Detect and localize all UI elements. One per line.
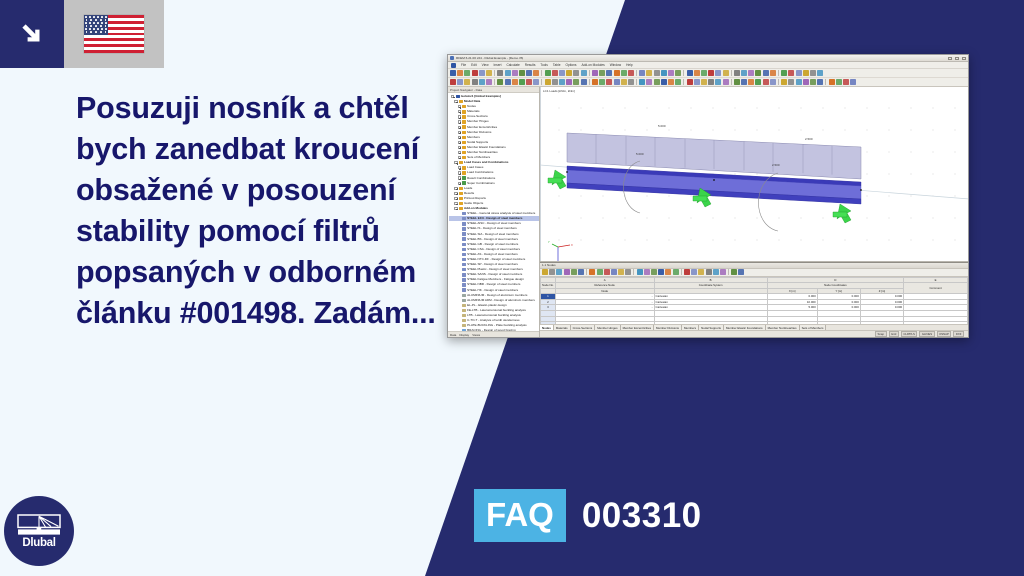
toolbar-button-23[interactable] (621, 70, 627, 76)
folder-icon (462, 171, 466, 174)
toolbar-button-35[interactable] (715, 79, 721, 85)
toolbar-button-4[interactable] (472, 79, 478, 85)
folder-icon (462, 176, 466, 179)
status-toggle[interactable]: GLINES (919, 331, 934, 337)
toolbar-button-6[interactable] (486, 70, 492, 76)
toolbar-button-6[interactable] (578, 269, 584, 275)
tree-expand-icon[interactable] (458, 171, 461, 174)
tree-expand-icon[interactable] (454, 202, 457, 205)
menu-item-view[interactable]: View (482, 63, 489, 67)
node-marker (860, 189, 862, 191)
toolbar-button-20[interactable] (599, 70, 605, 76)
language-flag-box[interactable] (64, 0, 164, 68)
load-label-2: 2.500 (805, 137, 813, 141)
toolbar-button-22[interactable] (614, 79, 620, 85)
truss-frame-icon (17, 514, 61, 536)
toolbar-separator (731, 79, 732, 85)
folder-icon (462, 115, 466, 118)
node-marker (713, 179, 715, 181)
toolbar-button-28[interactable] (661, 70, 667, 76)
table-panel[interactable]: 1.1 Nodes A B D E (540, 262, 968, 330)
addon-module-icon (462, 309, 466, 312)
toolbar-button-1[interactable] (542, 269, 548, 275)
folder-icon (462, 166, 466, 169)
toolbar-separator (541, 79, 542, 85)
tree-item-label: BRACING - Design of wood bracing (467, 328, 515, 331)
addon-module-icon (462, 237, 466, 240)
toolbar-button-48[interactable] (817, 79, 823, 85)
toolbar-button-44[interactable] (788, 79, 794, 85)
toolbar-button-11[interactable] (618, 269, 624, 275)
header-node-no: Node No. (541, 283, 556, 289)
toolbar-button-12[interactable] (533, 79, 539, 85)
menu-item-edit[interactable]: Edit (471, 63, 477, 67)
toolbar-separator (633, 269, 634, 275)
toolbar-button-13[interactable] (637, 269, 643, 275)
folder-icon (459, 192, 463, 195)
toolbar-button-49[interactable] (829, 79, 835, 85)
folder-icon (462, 110, 466, 113)
toolbar-button-21[interactable] (698, 269, 704, 275)
toolbar-button-51[interactable] (843, 79, 849, 85)
addon-module-icon (462, 319, 466, 322)
dlubal-wordmark: Dlubal (22, 537, 55, 549)
toolbar-button-7[interactable] (497, 79, 503, 85)
menu-item-results[interactable]: Results (525, 63, 536, 67)
close-button[interactable] (962, 57, 966, 60)
toolbar-separator (494, 79, 495, 85)
toolbar-button-37[interactable] (734, 79, 740, 85)
toolbar-button-25[interactable] (639, 79, 645, 85)
toolbar-button-36[interactable] (723, 79, 729, 85)
toolbar-button-26[interactable] (646, 79, 652, 85)
toolbar-separator (728, 269, 729, 275)
toolbar-button-4[interactable] (564, 269, 570, 275)
toolbar-button-45[interactable] (796, 70, 802, 76)
toolbar-button-20[interactable] (691, 269, 697, 275)
addon-module-icon (462, 314, 466, 317)
toolbar-button-3[interactable] (556, 269, 562, 275)
toolbar-button-38[interactable] (741, 79, 747, 85)
tree-expand-icon[interactable] (458, 131, 461, 134)
toolbar-button-16[interactable] (566, 70, 572, 76)
main-area: LC1 Loads [kN/m, kNm] (540, 87, 968, 337)
toolbar-button-12[interactable] (625, 269, 631, 275)
toolbar-button-43[interactable] (781, 79, 787, 85)
toolbar-button-12[interactable] (533, 70, 539, 76)
toolbar-separator (681, 269, 682, 275)
toolbar-button-46[interactable] (803, 79, 809, 85)
toolbar-button-47[interactable] (810, 79, 816, 85)
addon-module-icon (462, 263, 466, 266)
toolbar-button-16[interactable] (566, 79, 572, 85)
tree-expand-icon[interactable] (458, 115, 461, 118)
addon-module-icon (462, 227, 466, 230)
toolbar-button-52[interactable] (850, 79, 856, 85)
tree-expand-icon[interactable] (458, 120, 461, 123)
toolbar-button-39[interactable] (748, 70, 754, 76)
toolbar-button-24[interactable] (720, 269, 726, 275)
tree-expand-icon[interactable] (454, 187, 457, 190)
navigator-tab-views[interactable]: Views (472, 333, 480, 337)
toolbar-button-32[interactable] (694, 70, 700, 76)
addon-module-icon (462, 278, 466, 281)
toolbar-separator (636, 79, 637, 85)
toolbar-button-7[interactable] (589, 269, 595, 275)
toolbar-button-22[interactable] (614, 70, 620, 76)
folder-icon (462, 131, 466, 134)
status-bar[interactable]: SnapGridCLIPPLSGLINESOSNAPDXF (540, 330, 968, 337)
toolbar-button-25[interactable] (731, 269, 737, 275)
header-badges (0, 0, 164, 68)
tree-expand-icon[interactable] (458, 141, 461, 144)
load-label-4: 2.500 (772, 163, 780, 167)
toolbar-button-10[interactable] (611, 269, 617, 275)
menu-bar[interactable]: File Edit View Insert Calculate Results … (448, 62, 968, 69)
main-toolbar[interactable] (448, 69, 968, 78)
addon-module-icon (462, 329, 466, 331)
load-label-3: 5.000 (636, 152, 644, 156)
toolbar-button-34[interactable] (708, 70, 714, 76)
tree-expand-icon[interactable] (454, 192, 457, 195)
toolbar-separator (683, 70, 684, 76)
menu-item-help[interactable]: Help (626, 63, 633, 67)
folder-icon (462, 105, 466, 108)
toolbar-button-8[interactable] (505, 70, 511, 76)
toolbar-separator (541, 70, 542, 76)
secondary-toolbar[interactable] (448, 78, 968, 87)
rfem-application-window[interactable]: RFEM 6.21.00 x64 - Dlubal Example - [Dem… (447, 54, 969, 338)
toolbar-button-29[interactable] (668, 70, 674, 76)
nodal-support-3 (833, 204, 851, 223)
addon-module-icon (462, 253, 466, 256)
folder-icon (459, 100, 463, 103)
toolbar-button-19[interactable] (592, 79, 598, 85)
addon-module-icon (462, 273, 466, 276)
coordinate-axes: X Y Z (548, 240, 573, 262)
toolbar-button-31[interactable] (687, 70, 693, 76)
menu-item-window[interactable]: Window (610, 63, 621, 67)
status-toggle[interactable]: Snap (875, 331, 887, 337)
axis-label-y: Y (548, 240, 550, 244)
toolbar-button-32[interactable] (694, 79, 700, 85)
toolbar-button-41[interactable] (763, 79, 769, 85)
toolbar-button-10[interactable] (519, 70, 525, 76)
toolbar-button-46[interactable] (803, 70, 809, 76)
addon-module-icon (462, 268, 466, 271)
toolbar-button-9[interactable] (604, 269, 610, 275)
tree-expand-icon[interactable] (458, 182, 461, 185)
addon-module-icon (462, 324, 466, 327)
toolbar-button-7[interactable] (497, 70, 503, 76)
toolbar-button-8[interactable] (505, 79, 511, 85)
tree-expand-icon[interactable] (458, 126, 461, 129)
tree-expand-icon[interactable] (458, 176, 461, 179)
addon-module-icon (462, 222, 466, 225)
menu-item-table[interactable]: Table (553, 63, 561, 67)
toolbar-button-24[interactable] (628, 79, 634, 85)
toolbar-button-35[interactable] (715, 70, 721, 76)
axis-label-x: X (571, 243, 573, 247)
toolbar-button-42[interactable] (770, 79, 776, 85)
toolbar-button-11[interactable] (526, 79, 532, 85)
toolbar-button-29[interactable] (668, 79, 674, 85)
toolbar-button-17[interactable] (665, 269, 671, 275)
faq-number: 003310 (582, 498, 702, 533)
status-toggle[interactable]: CLIPPLS (901, 331, 918, 337)
toolbar-button-23[interactable] (621, 79, 627, 85)
toolbar-button-27[interactable] (654, 79, 660, 85)
tree-expand-icon[interactable] (454, 207, 457, 210)
toolbar-button-27[interactable] (654, 70, 660, 76)
addon-module-icon (462, 258, 466, 261)
load-label-1: 5.000 (658, 124, 666, 128)
tree-expand-icon[interactable] (458, 146, 461, 149)
structure-model-svg: 5.000 2.500 5.000 2.500 (540, 87, 968, 262)
toolbar-button-48[interactable] (817, 70, 823, 76)
folder-icon (456, 95, 460, 98)
toolbar-button-15[interactable] (651, 269, 657, 275)
menu-item-file[interactable]: File (461, 63, 466, 67)
folder-icon (462, 151, 466, 154)
toolbar-button-34[interactable] (708, 79, 714, 85)
navigator-footer-tabs[interactable]: Data Display Views (448, 331, 539, 337)
addon-module-icon (462, 299, 466, 302)
toolbar-button-43[interactable] (781, 70, 787, 76)
toolbar-button-38[interactable] (741, 70, 747, 76)
toolbar-button-1[interactable] (450, 79, 456, 85)
toolbar-button-22[interactable] (706, 269, 712, 275)
toolbar-button-33[interactable] (701, 70, 707, 76)
toolbar-button-18[interactable] (581, 79, 587, 85)
toolbar-button-37[interactable] (734, 70, 740, 76)
toolbar-button-13[interactable] (545, 79, 551, 85)
toolbar-button-30[interactable] (675, 70, 681, 76)
toolbar-button-17[interactable] (573, 70, 579, 76)
toolbar-button-39[interactable] (748, 79, 754, 85)
minimize-button[interactable] (948, 57, 952, 60)
toolbar-button-28[interactable] (661, 79, 667, 85)
headline-text: Posuzuji nosník a chtěl bych zanedbat kr… (76, 88, 436, 334)
us-flag-icon (84, 15, 144, 53)
toolbar-separator (589, 79, 590, 85)
faq-footer: FAQ 003310 (474, 489, 702, 542)
folder-icon (462, 136, 466, 139)
toolbar-separator (494, 70, 495, 76)
toolbar-button-14[interactable] (644, 269, 650, 275)
toolbar-button-6[interactable] (486, 79, 492, 85)
toolbar-button-9[interactable] (512, 79, 518, 85)
toolbar-separator (586, 269, 587, 275)
arrow-down-right-icon (17, 19, 47, 49)
toolbar-button-18[interactable] (581, 70, 587, 76)
addon-module-icon (462, 232, 466, 235)
app-icon (450, 56, 454, 60)
toolbar-button-45[interactable] (796, 79, 802, 85)
toolbar-button-14[interactable] (552, 70, 558, 76)
tree-expand-icon[interactable] (454, 197, 457, 200)
nodes-table[interactable]: A B D E Node No. Reference Node Coordina… (540, 277, 968, 325)
toolbar-button-10[interactable] (519, 79, 525, 85)
addon-module-icon (462, 288, 466, 291)
window-controls[interactable] (948, 57, 966, 60)
toolbar-button-25[interactable] (639, 70, 645, 76)
tree-item[interactable]: BRACING - Design of wood bracing (449, 328, 539, 331)
addon-module-icon (462, 294, 466, 297)
toolbar-button-16[interactable] (658, 269, 664, 275)
folder-icon (462, 181, 466, 184)
folder-icon (459, 207, 463, 210)
folder-icon (462, 125, 466, 128)
addon-module-icon (462, 217, 466, 220)
toolbar-button-19[interactable] (592, 70, 598, 76)
navigator-tab-data[interactable]: Data (450, 333, 456, 337)
folder-icon (462, 120, 466, 123)
toolbar-button-26[interactable] (646, 70, 652, 76)
toolbar-button-8[interactable] (597, 269, 603, 275)
toolbar-separator (778, 70, 779, 76)
window-title: RFEM 6.21.00 x64 - Dlubal Example - [Dem… (456, 56, 523, 60)
tree-expand-icon[interactable] (458, 136, 461, 139)
menu-logo-icon (451, 63, 456, 68)
toolbar-button-14[interactable] (552, 79, 558, 85)
slide-canvas: Posuzuji nosník a chtěl bych zanedbat kr… (0, 0, 1024, 576)
tree-expand-icon[interactable] (458, 151, 461, 154)
toolbar-button-15[interactable] (559, 70, 565, 76)
tree-expand-icon[interactable] (451, 95, 454, 98)
expand-arrow-box[interactable] (0, 0, 64, 68)
toolbar-button-44[interactable] (788, 70, 794, 76)
toolbar-button-9[interactable] (512, 70, 518, 76)
node-marker (566, 171, 568, 173)
toolbar-button-18[interactable] (673, 269, 679, 275)
header-comment: Comment (904, 283, 968, 294)
toolbar-button-5[interactable] (479, 70, 485, 76)
model-viewport[interactable]: LC1 Loads [kN/m, kNm] (540, 87, 968, 262)
tree-expand-icon[interactable] (454, 100, 457, 103)
navigator-scroll-area[interactable]: Isolator1 [Global Examples]Model DataNod… (448, 93, 539, 331)
toolbar-button-47[interactable] (810, 70, 816, 76)
nodal-support-1 (548, 170, 566, 189)
folder-icon (459, 161, 463, 164)
navigator-tree[interactable]: Isolator1 [Global Examples]Model DataNod… (448, 93, 539, 331)
tree-expand-icon[interactable] (458, 110, 461, 113)
navigator-tab-display[interactable]: Display (459, 333, 469, 337)
toolbar-separator (825, 79, 826, 85)
menu-item-addons[interactable]: Add-on Modules (582, 63, 605, 67)
toolbar-button-23[interactable] (713, 269, 719, 275)
menu-item-calculate[interactable]: Calculate (506, 63, 519, 67)
toolbar-button-24[interactable] (628, 70, 634, 76)
folder-icon (459, 197, 463, 200)
addon-module-icon (462, 283, 466, 286)
table-grid-wrap[interactable]: A B D E Node No. Reference Node Coordina… (540, 277, 968, 325)
menu-item-options[interactable]: Options (566, 63, 577, 67)
menu-item-insert[interactable]: Insert (494, 63, 502, 67)
tree-expand-icon[interactable] (458, 166, 461, 169)
toolbar-button-1[interactable] (450, 70, 456, 76)
toolbar-separator (778, 79, 779, 85)
toolbar-button-19[interactable] (684, 269, 690, 275)
toolbar-button-5[interactable] (571, 269, 577, 275)
tree-expand-icon[interactable] (458, 105, 461, 108)
toolbar-button-4[interactable] (472, 70, 478, 76)
project-navigator[interactable]: Project Navigator - Data Isolator1 [Glob… (448, 87, 540, 337)
toolbar-button-11[interactable] (526, 70, 532, 76)
dlubal-logo[interactable]: Dlubal (4, 496, 74, 566)
toolbar-separator (636, 70, 637, 76)
folder-icon (462, 141, 466, 144)
tree-expand-icon[interactable] (454, 161, 457, 164)
toolbar-separator (589, 70, 590, 76)
faq-badge: FAQ (474, 489, 566, 542)
toolbar-button-30[interactable] (675, 79, 681, 85)
toolbar-button-17[interactable] (573, 79, 579, 85)
toolbar-button-3[interactable] (464, 70, 470, 76)
toolbar-separator (683, 79, 684, 85)
menu-item-tools[interactable]: Tools (540, 63, 547, 67)
toolbar-button-2[interactable] (457, 70, 463, 76)
toolbar-button-20[interactable] (599, 79, 605, 85)
toolbar-button-15[interactable] (559, 79, 565, 85)
status-toggle[interactable]: OSNAP (937, 331, 952, 337)
toolbar-button-40[interactable] (755, 70, 761, 76)
toolbar-button-41[interactable] (763, 70, 769, 76)
toolbar-button-50[interactable] (836, 79, 842, 85)
addon-module-icon (462, 243, 466, 246)
folder-icon (462, 156, 466, 159)
toolbar-button-42[interactable] (770, 70, 776, 76)
toolbar-button-21[interactable] (606, 79, 612, 85)
toolbar-button-13[interactable] (545, 70, 551, 76)
status-toggle[interactable]: DXF (953, 331, 964, 337)
toolbar-button-21[interactable] (606, 70, 612, 76)
tree-expand-icon[interactable] (458, 156, 461, 159)
folder-icon (459, 187, 463, 190)
toolbar-button-3[interactable] (464, 79, 470, 85)
app-body: Project Navigator - Data Isolator1 [Glob… (448, 87, 968, 337)
toolbar-button-33[interactable] (701, 79, 707, 85)
toolbar-button-2[interactable] (457, 79, 463, 85)
toolbar-button-5[interactable] (479, 79, 485, 85)
addon-module-icon (462, 304, 466, 307)
toolbar-button-2[interactable] (549, 269, 555, 275)
window-titlebar: RFEM 6.21.00 x64 - Dlubal Example - [Dem… (448, 55, 968, 62)
folder-icon (459, 202, 463, 205)
addon-module-icon (462, 212, 466, 215)
toolbar-button-31[interactable] (687, 79, 693, 85)
addon-module-icon (462, 248, 466, 251)
toolbar-button-26[interactable] (738, 269, 744, 275)
toolbar-button-40[interactable] (755, 79, 761, 85)
maximize-button[interactable] (955, 57, 959, 60)
status-toggle[interactable]: Grid (889, 331, 899, 337)
toolbar-button-36[interactable] (723, 70, 729, 76)
toolbar-separator (731, 70, 732, 76)
table-toolbar[interactable] (540, 269, 968, 277)
folder-icon (462, 146, 466, 149)
